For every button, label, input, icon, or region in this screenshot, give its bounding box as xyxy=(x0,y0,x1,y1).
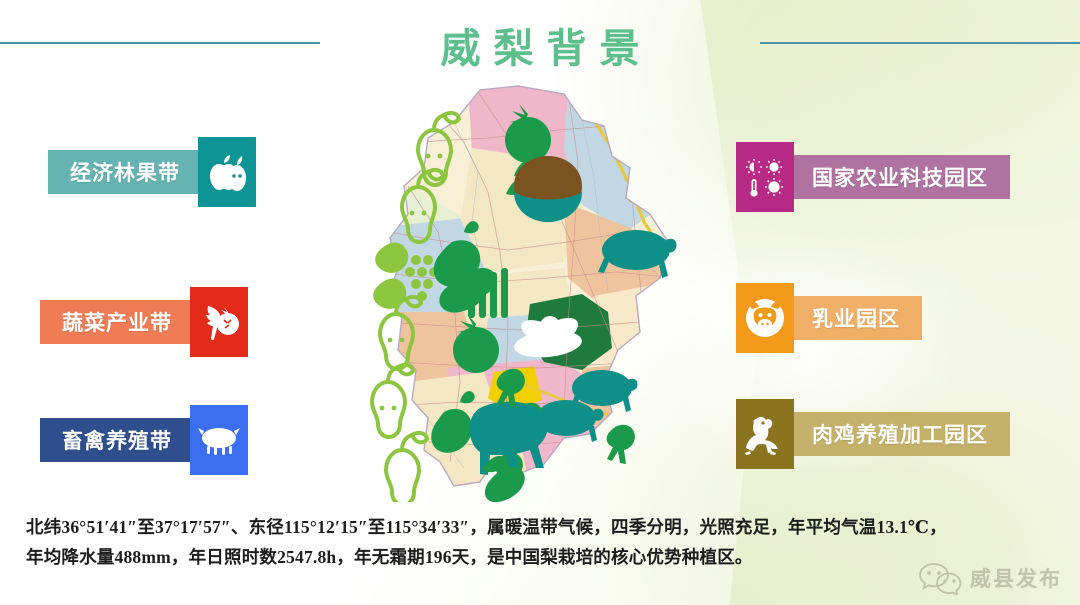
slide-canvas: 威梨背景 xyxy=(0,0,1080,605)
carrot-tomato-icon xyxy=(190,287,248,357)
pear-seed xyxy=(422,211,427,216)
header-rule-right xyxy=(760,42,1080,44)
pear-icon xyxy=(372,365,413,437)
banner-label: 乳业园区 xyxy=(812,303,900,333)
pear-seed xyxy=(410,211,415,216)
watermark-text: 威县发布 xyxy=(970,563,1062,593)
caption-block: 北纬36°51′41″至37°17′57″、东径115°12′15″至115°3… xyxy=(26,512,976,572)
mushroom-icon xyxy=(514,156,582,222)
banner-label: 畜禽养殖带 xyxy=(62,425,172,455)
banner-national-agri-tech-park[interactable]: 国家农业科技园区 xyxy=(736,155,1010,199)
banner-vegetable-industry-belt[interactable]: 蔬菜产业带 xyxy=(40,300,248,344)
banner-label: 经济林果带 xyxy=(70,157,180,187)
pear-icon xyxy=(386,433,427,502)
header-rule-left xyxy=(0,42,320,44)
cow-head-icon xyxy=(736,283,794,353)
chicken-glyph xyxy=(744,413,786,455)
pear-seed xyxy=(400,338,405,343)
pear-seed xyxy=(426,154,431,159)
pig-glyph xyxy=(197,423,241,457)
banner-label: 肉鸡养殖加工园区 xyxy=(812,419,988,449)
banner-dairy-park[interactable]: 乳业园区 xyxy=(736,296,922,340)
page-title: 威梨背景 xyxy=(330,16,750,74)
banner-label: 国家农业科技园区 xyxy=(812,162,988,192)
caption-line-1: 北纬36°51′41″至37°17′57″、东径115°12′15″至115°3… xyxy=(26,512,976,542)
map-svg xyxy=(368,82,688,502)
pear-seed xyxy=(388,338,393,343)
banner-label: 蔬菜产业带 xyxy=(62,307,172,337)
banner-broiler-chicken-park[interactable]: 肉鸡养殖加工园区 xyxy=(736,412,1010,456)
apple-pear-icon xyxy=(198,137,256,207)
chicken-icon xyxy=(607,425,635,464)
pear-seed xyxy=(392,406,397,411)
wechat-icon xyxy=(918,561,962,595)
wei-county-agricultural-map xyxy=(368,82,688,502)
pear-seed xyxy=(380,406,385,411)
sun-thermometer-icon xyxy=(736,142,794,212)
apple-pear-glyph xyxy=(206,152,248,192)
caption-line-2: 年均降水量488mm，年日照时数2547.8h，年无霜期196天，是中国梨栽培的… xyxy=(26,542,976,572)
watermark: 威县发布 xyxy=(918,561,1062,595)
pig-icon xyxy=(190,405,248,475)
chicken-icon xyxy=(736,399,794,469)
cow-head-glyph xyxy=(744,297,786,339)
pear-seed xyxy=(438,154,443,159)
carrot-tomato-glyph xyxy=(198,302,240,342)
banner-livestock-poultry-belt[interactable]: 畜禽养殖带 xyxy=(40,418,248,462)
sun-thermometer-glyph xyxy=(743,155,787,199)
banner-economic-forest-fruit-belt[interactable]: 经济林果带 xyxy=(48,150,256,194)
